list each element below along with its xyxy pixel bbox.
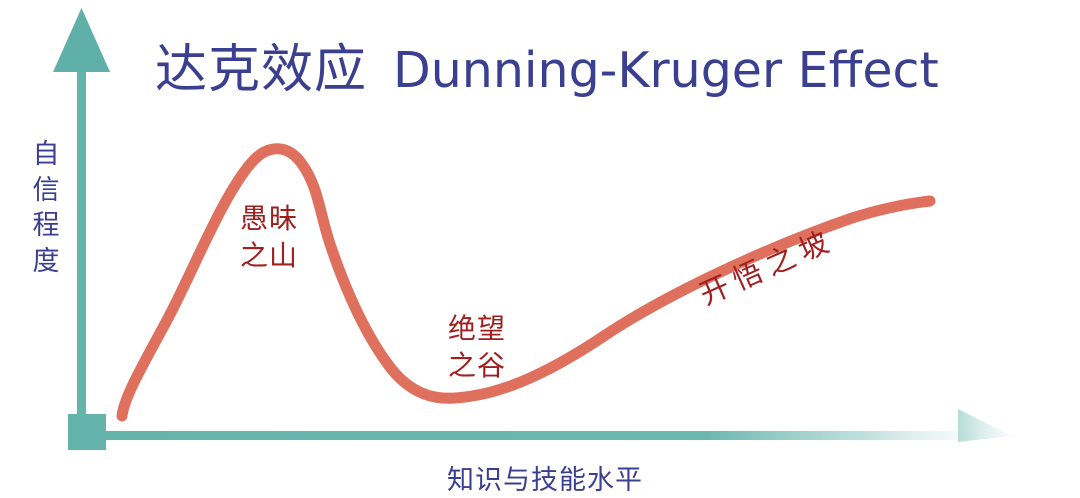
dunning-kruger-curve: [122, 149, 930, 416]
x-axis-arrow-icon: [958, 409, 1012, 442]
x-axis-label: 知识与技能水平: [0, 458, 1080, 497]
y-axis-label: 自 信 程 度: [26, 137, 66, 280]
y-axis-label-char-1: 自: [26, 137, 66, 173]
annotation-mount-stupid: 愚昧 之山: [240, 200, 298, 274]
y-axis-arrow-icon: [53, 8, 110, 72]
chart-canvas: [0, 0, 1080, 498]
annotation-valley-of-despair-line2: 之谷: [448, 347, 506, 384]
annotation-mount-stupid-line2: 之山: [240, 237, 298, 274]
y-axis-line: [77, 62, 86, 434]
y-axis-label-char-4: 度: [26, 244, 66, 280]
annotation-valley-of-despair-line1: 绝望: [448, 310, 506, 347]
origin-marker: [68, 414, 106, 450]
y-axis-label-char-2: 信: [26, 173, 66, 209]
y-axis-label-char-3: 程: [26, 208, 66, 244]
x-axis-line: [86, 431, 976, 440]
dunning-kruger-diagram: 达克效应Dunning-Kruger Effect: [0, 0, 1080, 498]
annotation-mount-stupid-line1: 愚昧: [240, 200, 298, 237]
annotation-valley-of-despair: 绝望 之谷: [448, 310, 506, 384]
